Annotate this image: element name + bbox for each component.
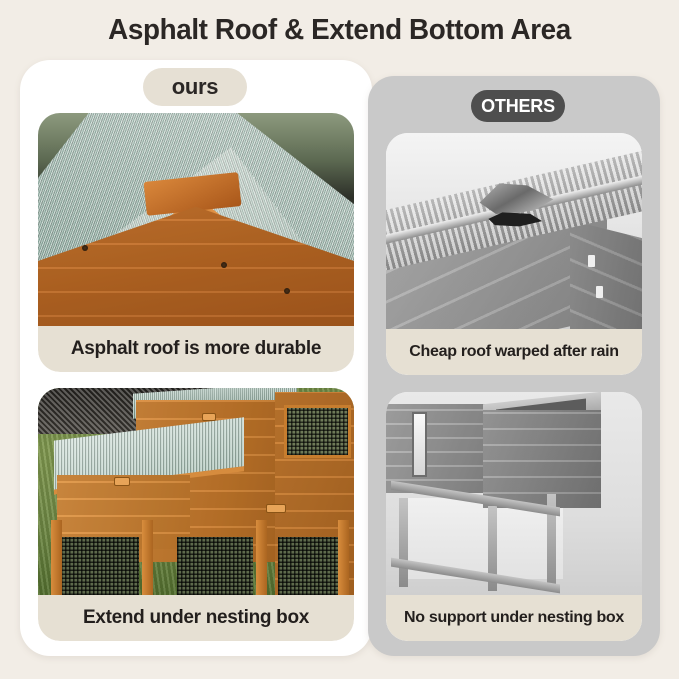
ours-caption-1: Asphalt roof is more durable: [38, 326, 354, 372]
door-handle-icon: [266, 504, 286, 513]
lower-wire-mesh-mid: [177, 537, 253, 595]
upper-wire-mesh: [284, 405, 350, 459]
ours-card-asphalt-roof: Asphalt roof is more durable: [38, 113, 354, 372]
others-caption-2: No support under nesting box: [386, 595, 642, 641]
coop-leg: [338, 520, 349, 595]
others-card-warped-roof: Cheap roof warped after rain: [386, 133, 642, 375]
nail-head-icon: [596, 286, 603, 298]
warped-roof-photo: [386, 133, 642, 329]
ours-card-extend-bottom: Extend under nesting box: [38, 388, 354, 641]
comparison-infographic: Asphalt Roof & Extend Bottom Area ours A…: [0, 0, 679, 679]
coop-leg: [142, 520, 153, 595]
others-caption-1: Cheap roof warped after rain: [386, 329, 642, 375]
ours-caption-2: Extend under nesting box: [38, 595, 354, 641]
coop-left-body: [386, 404, 486, 493]
page-title: Asphalt Roof & Extend Bottom Area: [14, 14, 666, 47]
others-badge: OTHERS: [471, 90, 565, 122]
hinge-icon: [202, 413, 216, 421]
lower-wire-mesh-left: [57, 537, 139, 595]
latch-icon: [114, 477, 130, 486]
nail-head-icon: [588, 255, 595, 267]
nesting-box-side-panel: [483, 410, 601, 507]
others-card-no-support: No support under nesting box: [386, 392, 642, 641]
asphalt-roof-gable-photo: [38, 113, 354, 326]
coop-extended-nesting-box-photo: [38, 388, 354, 595]
frame-post: [399, 498, 408, 587]
coop-leg: [256, 520, 267, 595]
coop-wall-right: [570, 220, 642, 329]
unsupported-nesting-box-photo: [386, 392, 642, 595]
open-slot: [412, 412, 427, 477]
ours-badge: ours: [143, 68, 247, 106]
coop-leg: [51, 520, 62, 595]
